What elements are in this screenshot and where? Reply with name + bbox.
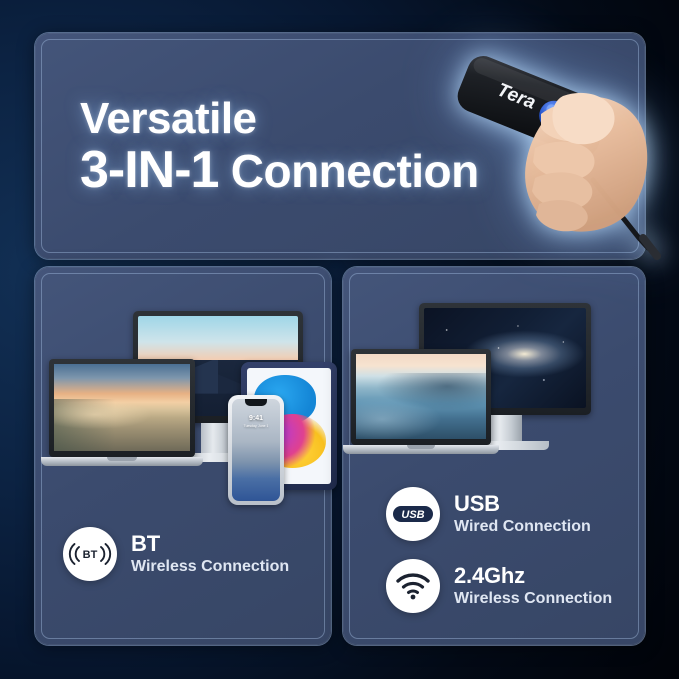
- right-device-cluster: [343, 267, 645, 487]
- usb-logo-icon: USB: [386, 487, 440, 541]
- iphone-notch: [245, 399, 267, 406]
- macbook-wallpaper-right: [356, 354, 486, 439]
- feature-wifi-title: 2.4Ghz: [454, 564, 612, 589]
- headline-rest: Connection: [231, 145, 479, 197]
- marketing-image: Versatile 3-IN-1 Connection: [0, 0, 679, 679]
- feature-usb: USB USB Wired Connection: [386, 487, 591, 541]
- headline-line-2: 3-IN-1 Connection: [80, 141, 479, 199]
- headline-emphasis: 3-IN-1: [80, 141, 218, 199]
- svg-text:BT: BT: [83, 549, 98, 561]
- feature-bluetooth: BT BT Wireless Connection: [63, 527, 289, 581]
- feature-usb-subtitle: Wired Connection: [454, 517, 591, 536]
- feature-wifi: 2.4Ghz Wireless Connection: [386, 559, 612, 613]
- feature-bluetooth-subtitle: Wireless Connection: [131, 557, 289, 576]
- left-device-cluster: 9:41 Tuesday, June 1: [35, 267, 331, 517]
- feature-wifi-subtitle: Wireless Connection: [454, 589, 612, 608]
- macbook-wallpaper: [54, 364, 190, 451]
- feature-usb-text: USB Wired Connection: [454, 492, 591, 536]
- bluetooth-bt-icon: BT: [63, 527, 117, 581]
- svg-text:USB: USB: [401, 509, 424, 521]
- iphone-clock: 9:41 Tuesday, June 1: [232, 415, 280, 428]
- feature-bluetooth-text: BT Wireless Connection: [131, 532, 289, 576]
- scanner-in-hand-image: Tera: [443, 52, 669, 264]
- feature-wifi-text: 2.4Ghz Wireless Connection: [454, 564, 612, 608]
- page-title: Versatile 3-IN-1 Connection: [80, 96, 479, 200]
- wifi-icon: [386, 559, 440, 613]
- feature-bluetooth-title: BT: [131, 532, 289, 557]
- headline-line-1: Versatile: [80, 96, 479, 141]
- iphone-wallpaper: 9:41 Tuesday, June 1: [232, 399, 280, 501]
- feature-usb-title: USB: [454, 492, 591, 517]
